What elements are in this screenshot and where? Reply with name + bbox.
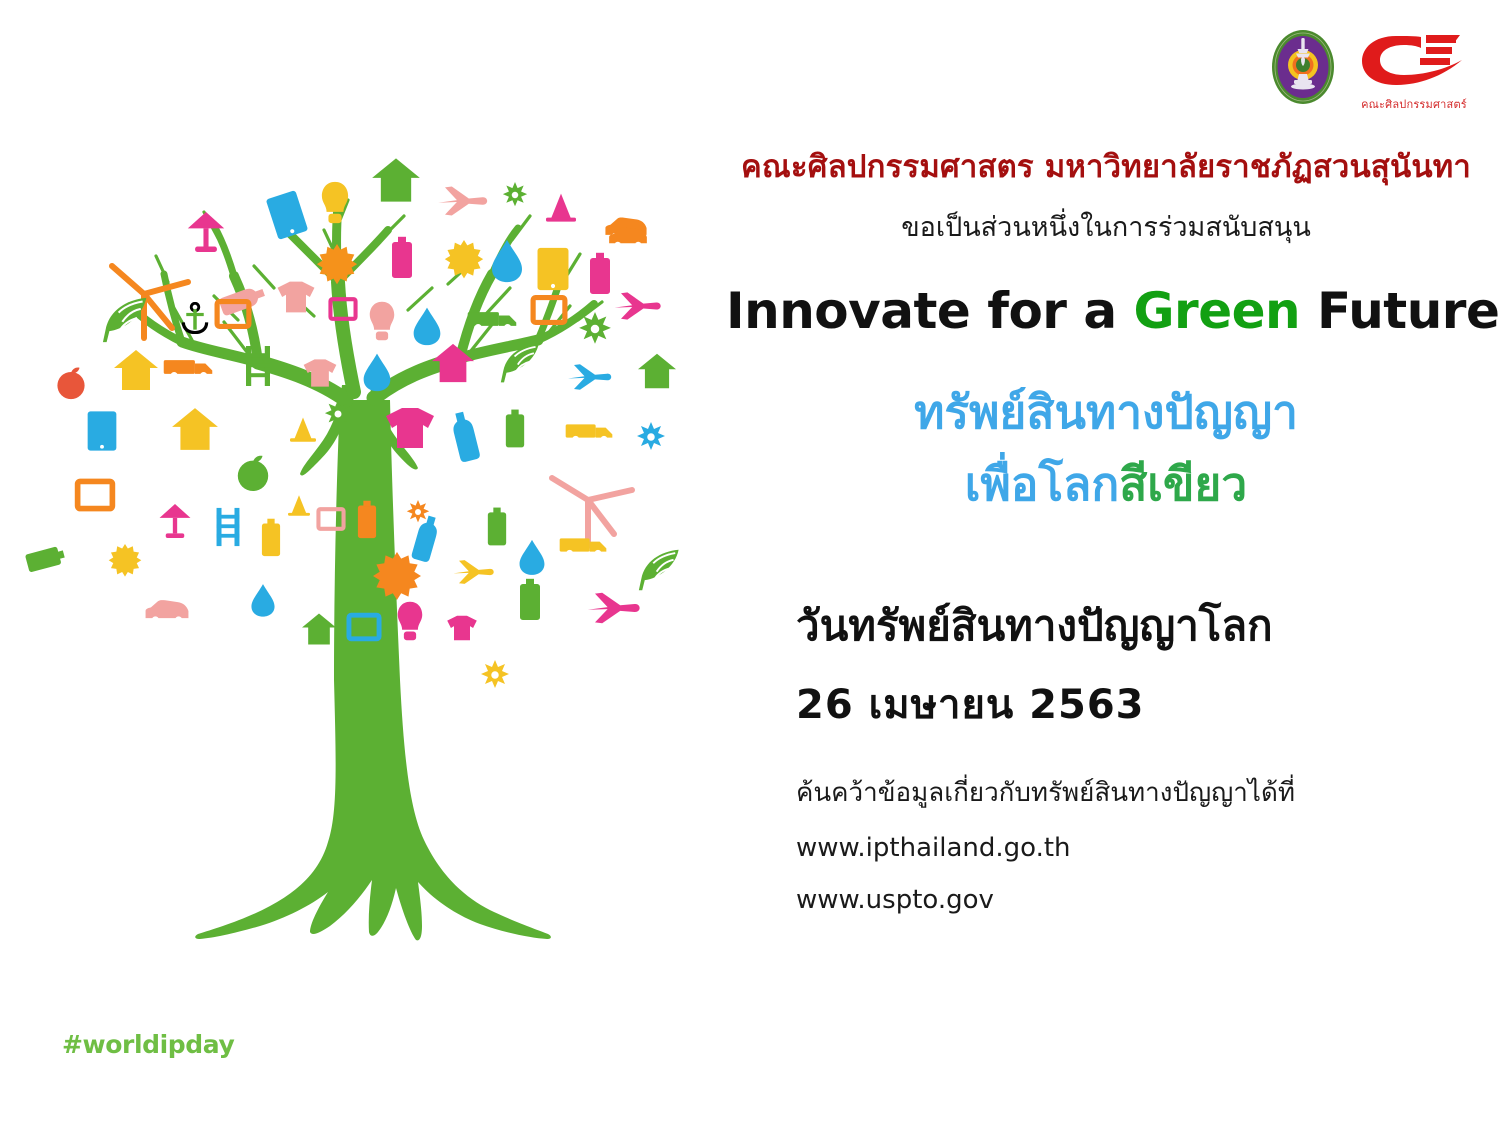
idea-tree-illustration: [18, 70, 718, 1080]
organization-title: คณะศิลปกรรมศาสตร มหาวิทยาลัยราชภัฏสวนสุน…: [726, 150, 1486, 186]
url-ipthailand[interactable]: www.ipthailand.go.th: [796, 833, 1486, 863]
thai-slogan-line-2: เพื่อโลกสีเขียว: [726, 456, 1486, 514]
headline-part-2: Future: [1300, 282, 1499, 340]
windmill-icon: [552, 478, 632, 546]
faculty-logo-mark: [1358, 28, 1470, 94]
research-note: ค้นคว้าข้อมูลเกี่ยวกับทรัพย์สินทางปัญญาไ…: [796, 776, 1486, 811]
url-uspto[interactable]: www.uspto.gov: [796, 885, 1486, 915]
headline-part-1: Innovate for a: [726, 282, 1134, 340]
thai-slogan-line-1: ทรัพย์สินทางปัญญา: [726, 384, 1486, 442]
campaign-headline: Innovate for a Green Future: [726, 282, 1486, 340]
faculty-logo: คณะศิลปกรรมศาสตร์: [1358, 28, 1470, 113]
event-details-block: วันทรัพย์สินทางปัญญาโลก 26 เมษายน 2563 ค…: [726, 599, 1486, 915]
support-statement: ขอเป็นส่วนหนึ่งในการร่วมสนับสนุน: [726, 212, 1486, 244]
thai-slogan-green: สีเขียว: [1119, 457, 1247, 511]
logo-bar: · คณะศิลปกรรมศาสตร์: [1270, 28, 1470, 113]
faculty-logo-caption: คณะศิลปกรรมศาสตร์: [1361, 95, 1467, 113]
content-column: คณะศิลปกรรมศาสตร มหาวิทยาลัยราชภัฏสวนสุน…: [726, 150, 1486, 915]
worldipday-hashtag: #worldipday: [62, 1030, 234, 1059]
university-seal-icon: ·: [1270, 28, 1336, 106]
thai-slogan-blue: เพื่อโลก: [965, 457, 1119, 511]
event-day-title: วันทรัพย์สินทางปัญญาโลก: [796, 599, 1486, 654]
headline-highlight-green: Green: [1134, 282, 1301, 340]
event-date: 26 เมษายน 2563: [796, 672, 1486, 736]
poster-canvas: · คณะศิลปกรรมศาสตร์: [0, 0, 1500, 1125]
